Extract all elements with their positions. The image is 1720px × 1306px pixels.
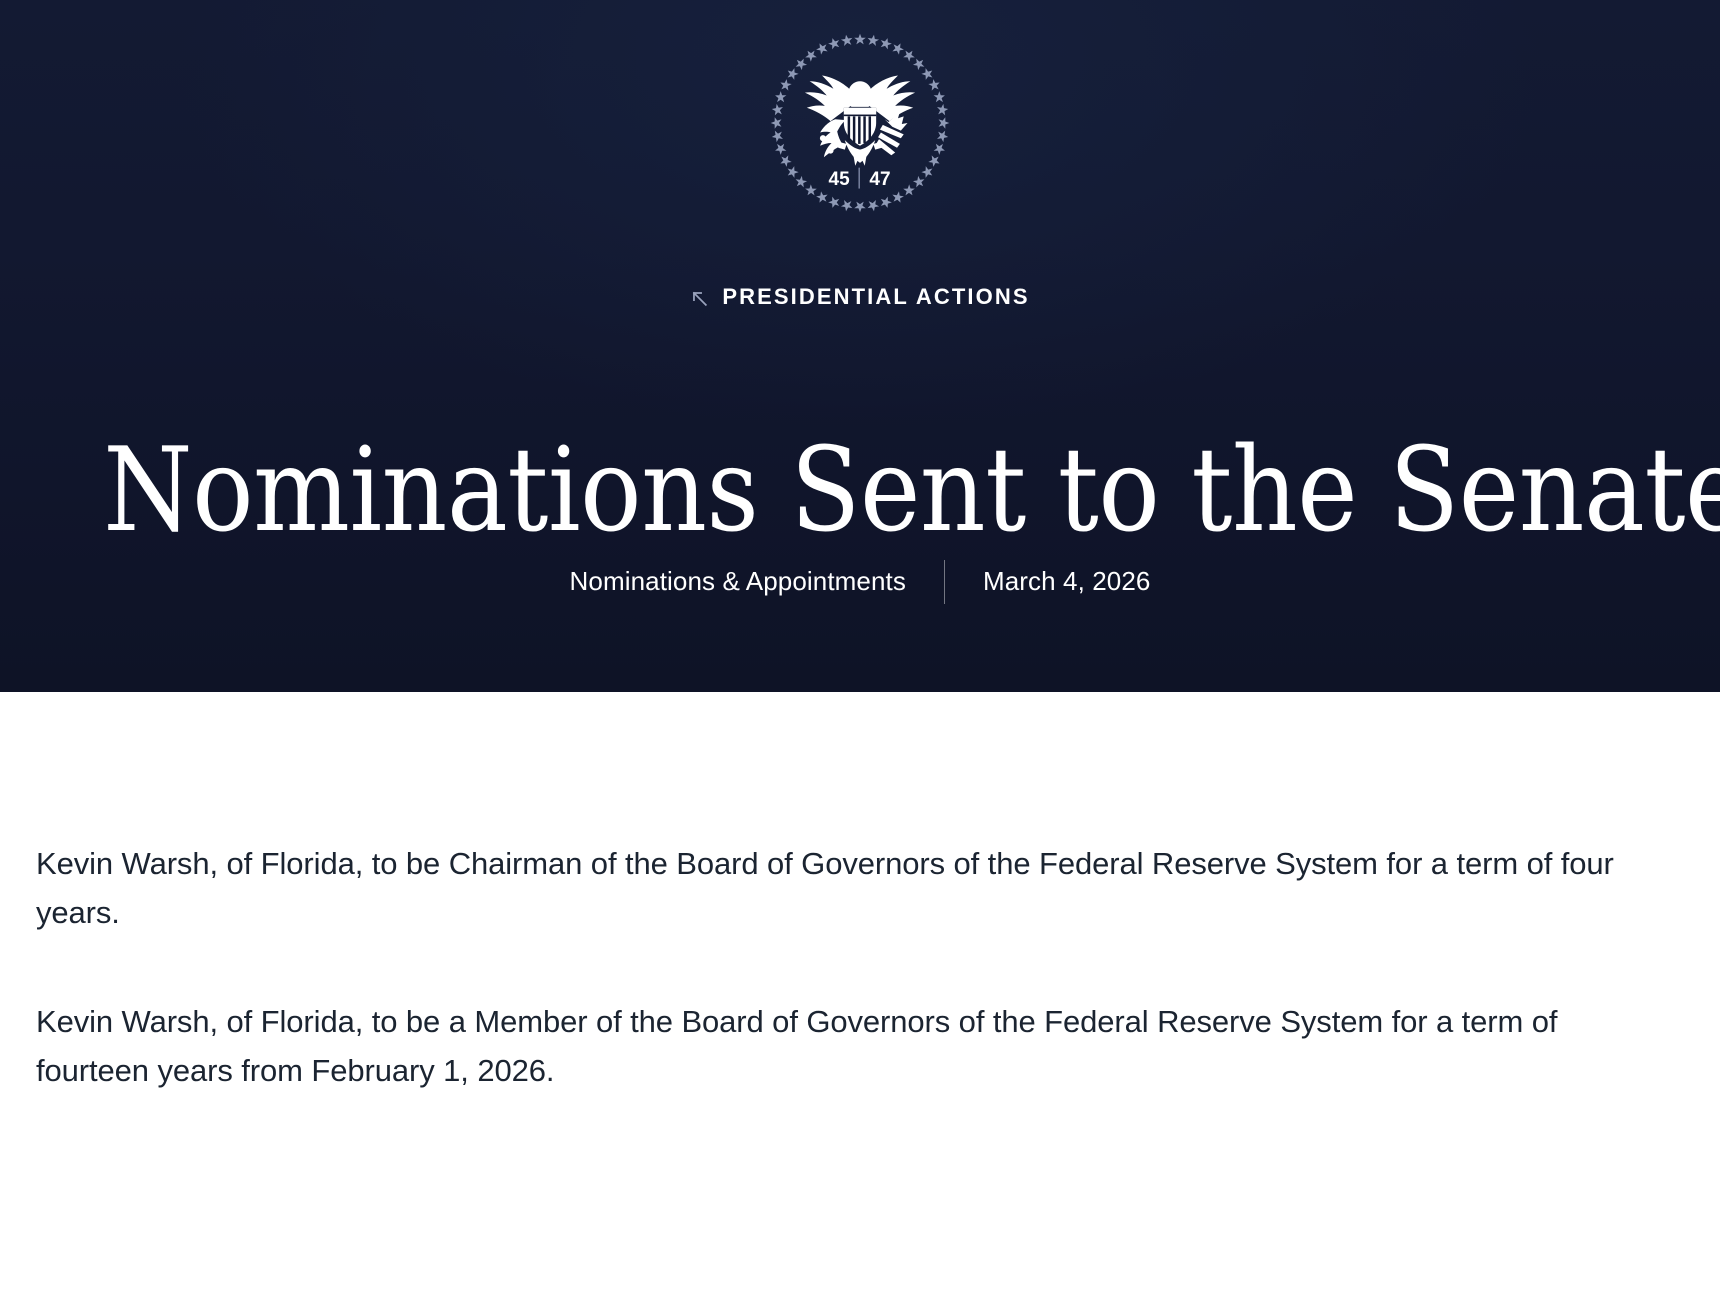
page-hero: 45 47 PRESIDENTIAL ACTIONS Nominations S… bbox=[0, 0, 1720, 692]
breadcrumb-label: PRESIDENTIAL ACTIONS bbox=[722, 286, 1029, 308]
svg-text:47: 47 bbox=[869, 169, 890, 190]
article-paragraph: Kevin Warsh, of Florida, to be a Member … bbox=[36, 998, 1624, 1096]
presidential-seal: 45 47 bbox=[765, 28, 955, 218]
article-paragraph: Kevin Warsh, of Florida, to be Chairman … bbox=[36, 840, 1624, 938]
article-body: Kevin Warsh, of Florida, to be Chairman … bbox=[0, 692, 1720, 1156]
meta-date: March 4, 2026 bbox=[983, 566, 1151, 597]
meta-divider bbox=[944, 560, 945, 604]
page-title: Nominations Sent to the Senate bbox=[103, 430, 1617, 553]
arrow-up-left-icon bbox=[690, 289, 709, 308]
article-meta: Nominations & Appointments March 4, 2026 bbox=[0, 560, 1720, 604]
svg-text:45: 45 bbox=[829, 169, 851, 190]
meta-category: Nominations & Appointments bbox=[570, 566, 906, 597]
breadcrumb-presidential-actions[interactable]: PRESIDENTIAL ACTIONS bbox=[0, 286, 1720, 308]
